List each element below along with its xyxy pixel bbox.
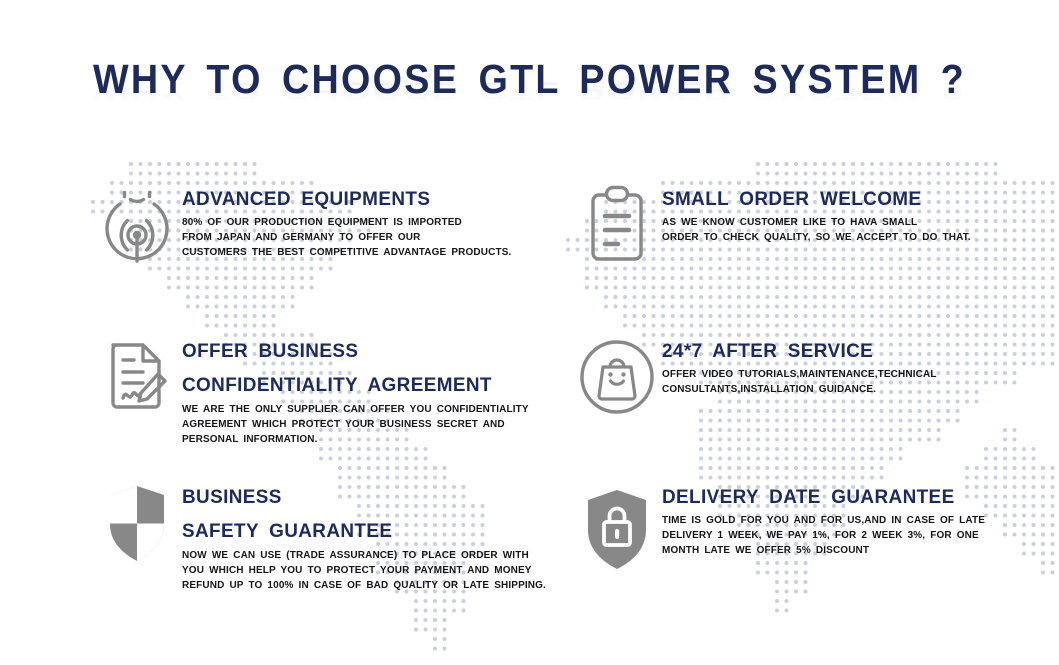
feature-description: WE ARE THE ONLY SUPPLIER CAN OFFER YOU C… — [182, 403, 529, 447]
shopping-bag-smile-icon — [580, 336, 654, 426]
feature-description: 80% OF OUR PRODUCTION EQUIPMENT IS IMPOR… — [182, 216, 511, 260]
feature-title: 24*7 AFTER SERVICE — [662, 336, 939, 366]
feature-text-block: DELIVERY DATE GUARANTEE TIME IS GOLD FOR… — [654, 482, 998, 559]
feature-title-line2: CONFIDENTIALITY AGREEMENT — [182, 370, 532, 402]
feature-description-line: AGREEMENT WHICH PROTECT YOUR BUSINESS SE… — [182, 418, 529, 433]
feature-text-block: BUSINESS SAFETY GUARANTEE NOW WE CAN USE… — [174, 482, 561, 593]
feature-description: OFFER VIDEO TUTORIALS,MAINTENANCE,TECHNI… — [662, 368, 937, 398]
feature-title-line2: SAFETY GUARANTEE — [182, 516, 550, 548]
feature-description-line: DELIVERY 1 WEEK, WE PAY 1%, FOR 2 WEEK 3… — [662, 529, 985, 544]
feature-text-block: OFFER BUSINESS CONFIDENTIALITY AGREEMENT… — [174, 336, 543, 447]
feature-description-line: ORDER TO CHECK QUALITY, SO WE ACCEPT TO … — [662, 231, 971, 246]
feature-text-block: SMALL ORDER WELCOME AS WE KNOW CUSTOMER … — [654, 184, 984, 246]
feature-description-line: AS WE KNOW CUSTOMER LIKE TO HAVA SMALL — [662, 216, 971, 231]
feature-text-block: 24*7 AFTER SERVICE OFFER VIDEO TUTORIALS… — [654, 336, 948, 398]
feature-description-line: CUSTOMERS THE BEST COMPETITIVE ADVANTAGE… — [182, 246, 511, 261]
feature-title-line1: BUSINESS — [182, 482, 550, 514]
feature-description: TIME IS GOLD FOR YOU AND FOR US,AND IN C… — [662, 514, 985, 558]
feature-description-line: CONSULTANTS,INSTALLATION GUIDANCE. — [662, 383, 937, 398]
feature-title: SMALL ORDER WELCOME — [662, 184, 974, 214]
feature-description-line: TIME IS GOLD FOR YOU AND FOR US,AND IN C… — [662, 514, 985, 529]
shield-check-icon — [100, 482, 174, 572]
feature-item-after-service[interactable]: 24*7 AFTER SERVICE OFFER VIDEO TUTORIALS… — [580, 336, 948, 426]
feature-description: AS WE KNOW CUSTOMER LIKE TO HAVA SMALL O… — [662, 216, 971, 246]
feature-description-line: 80% OF OUR PRODUCTION EQUIPMENT IS IMPOR… — [182, 216, 511, 231]
feature-item-delivery-date-guarantee[interactable]: DELIVERY DATE GUARANTEE TIME IS GOLD FOR… — [580, 482, 998, 572]
feature-description: NOW WE CAN USE (TRADE ASSURANCE) TO PLAC… — [182, 549, 546, 593]
feature-description-line: NOW WE CAN USE (TRADE ASSURANCE) TO PLAC… — [182, 549, 546, 564]
feature-description-line: WE ARE THE ONLY SUPPLIER CAN OFFER YOU C… — [182, 403, 529, 418]
feature-description-line: YOU WHICH HELP YOU TO PROTECT YOUR PAYME… — [182, 564, 546, 579]
document-pen-icon — [100, 336, 174, 426]
signal-tower-icon — [100, 184, 174, 274]
feature-title-line1: OFFER BUSINESS — [182, 336, 532, 368]
feature-item-small-order-welcome[interactable]: SMALL ORDER WELCOME AS WE KNOW CUSTOMER … — [580, 184, 984, 274]
feature-item-confidentiality-agreement[interactable]: OFFER BUSINESS CONFIDENTIALITY AGREEMENT… — [100, 336, 543, 447]
feature-description-line: FROM JAPAN AND GERMANY TO OFFER OUR — [182, 231, 511, 246]
feature-description-line: REFUND UP TO 100% IN CASE OF BAD QUALITY… — [182, 579, 546, 594]
feature-item-business-safety-guarantee[interactable]: BUSINESS SAFETY GUARANTEE NOW WE CAN USE… — [100, 482, 561, 593]
feature-description-line: PERSONAL INFORMATION. — [182, 433, 529, 448]
feature-title: ADVANCED EQUIPMENTS — [182, 184, 515, 214]
feature-text-block: ADVANCED EQUIPMENTS 80% OF OUR PRODUCTIO… — [174, 184, 525, 261]
feature-grid: ADVANCED EQUIPMENTS 80% OF OUR PRODUCTIO… — [0, 0, 1059, 665]
feature-description-line: MONTH LATE WE OFFER 5% DISCOUNT — [662, 544, 985, 559]
clipboard-icon — [580, 184, 654, 274]
shield-lock-icon — [580, 482, 654, 572]
feature-title: DELIVERY DATE GUARANTEE — [662, 482, 988, 512]
feature-item-advanced-equipments[interactable]: ADVANCED EQUIPMENTS 80% OF OUR PRODUCTIO… — [100, 184, 525, 274]
feature-description-line: OFFER VIDEO TUTORIALS,MAINTENANCE,TECHNI… — [662, 368, 937, 383]
